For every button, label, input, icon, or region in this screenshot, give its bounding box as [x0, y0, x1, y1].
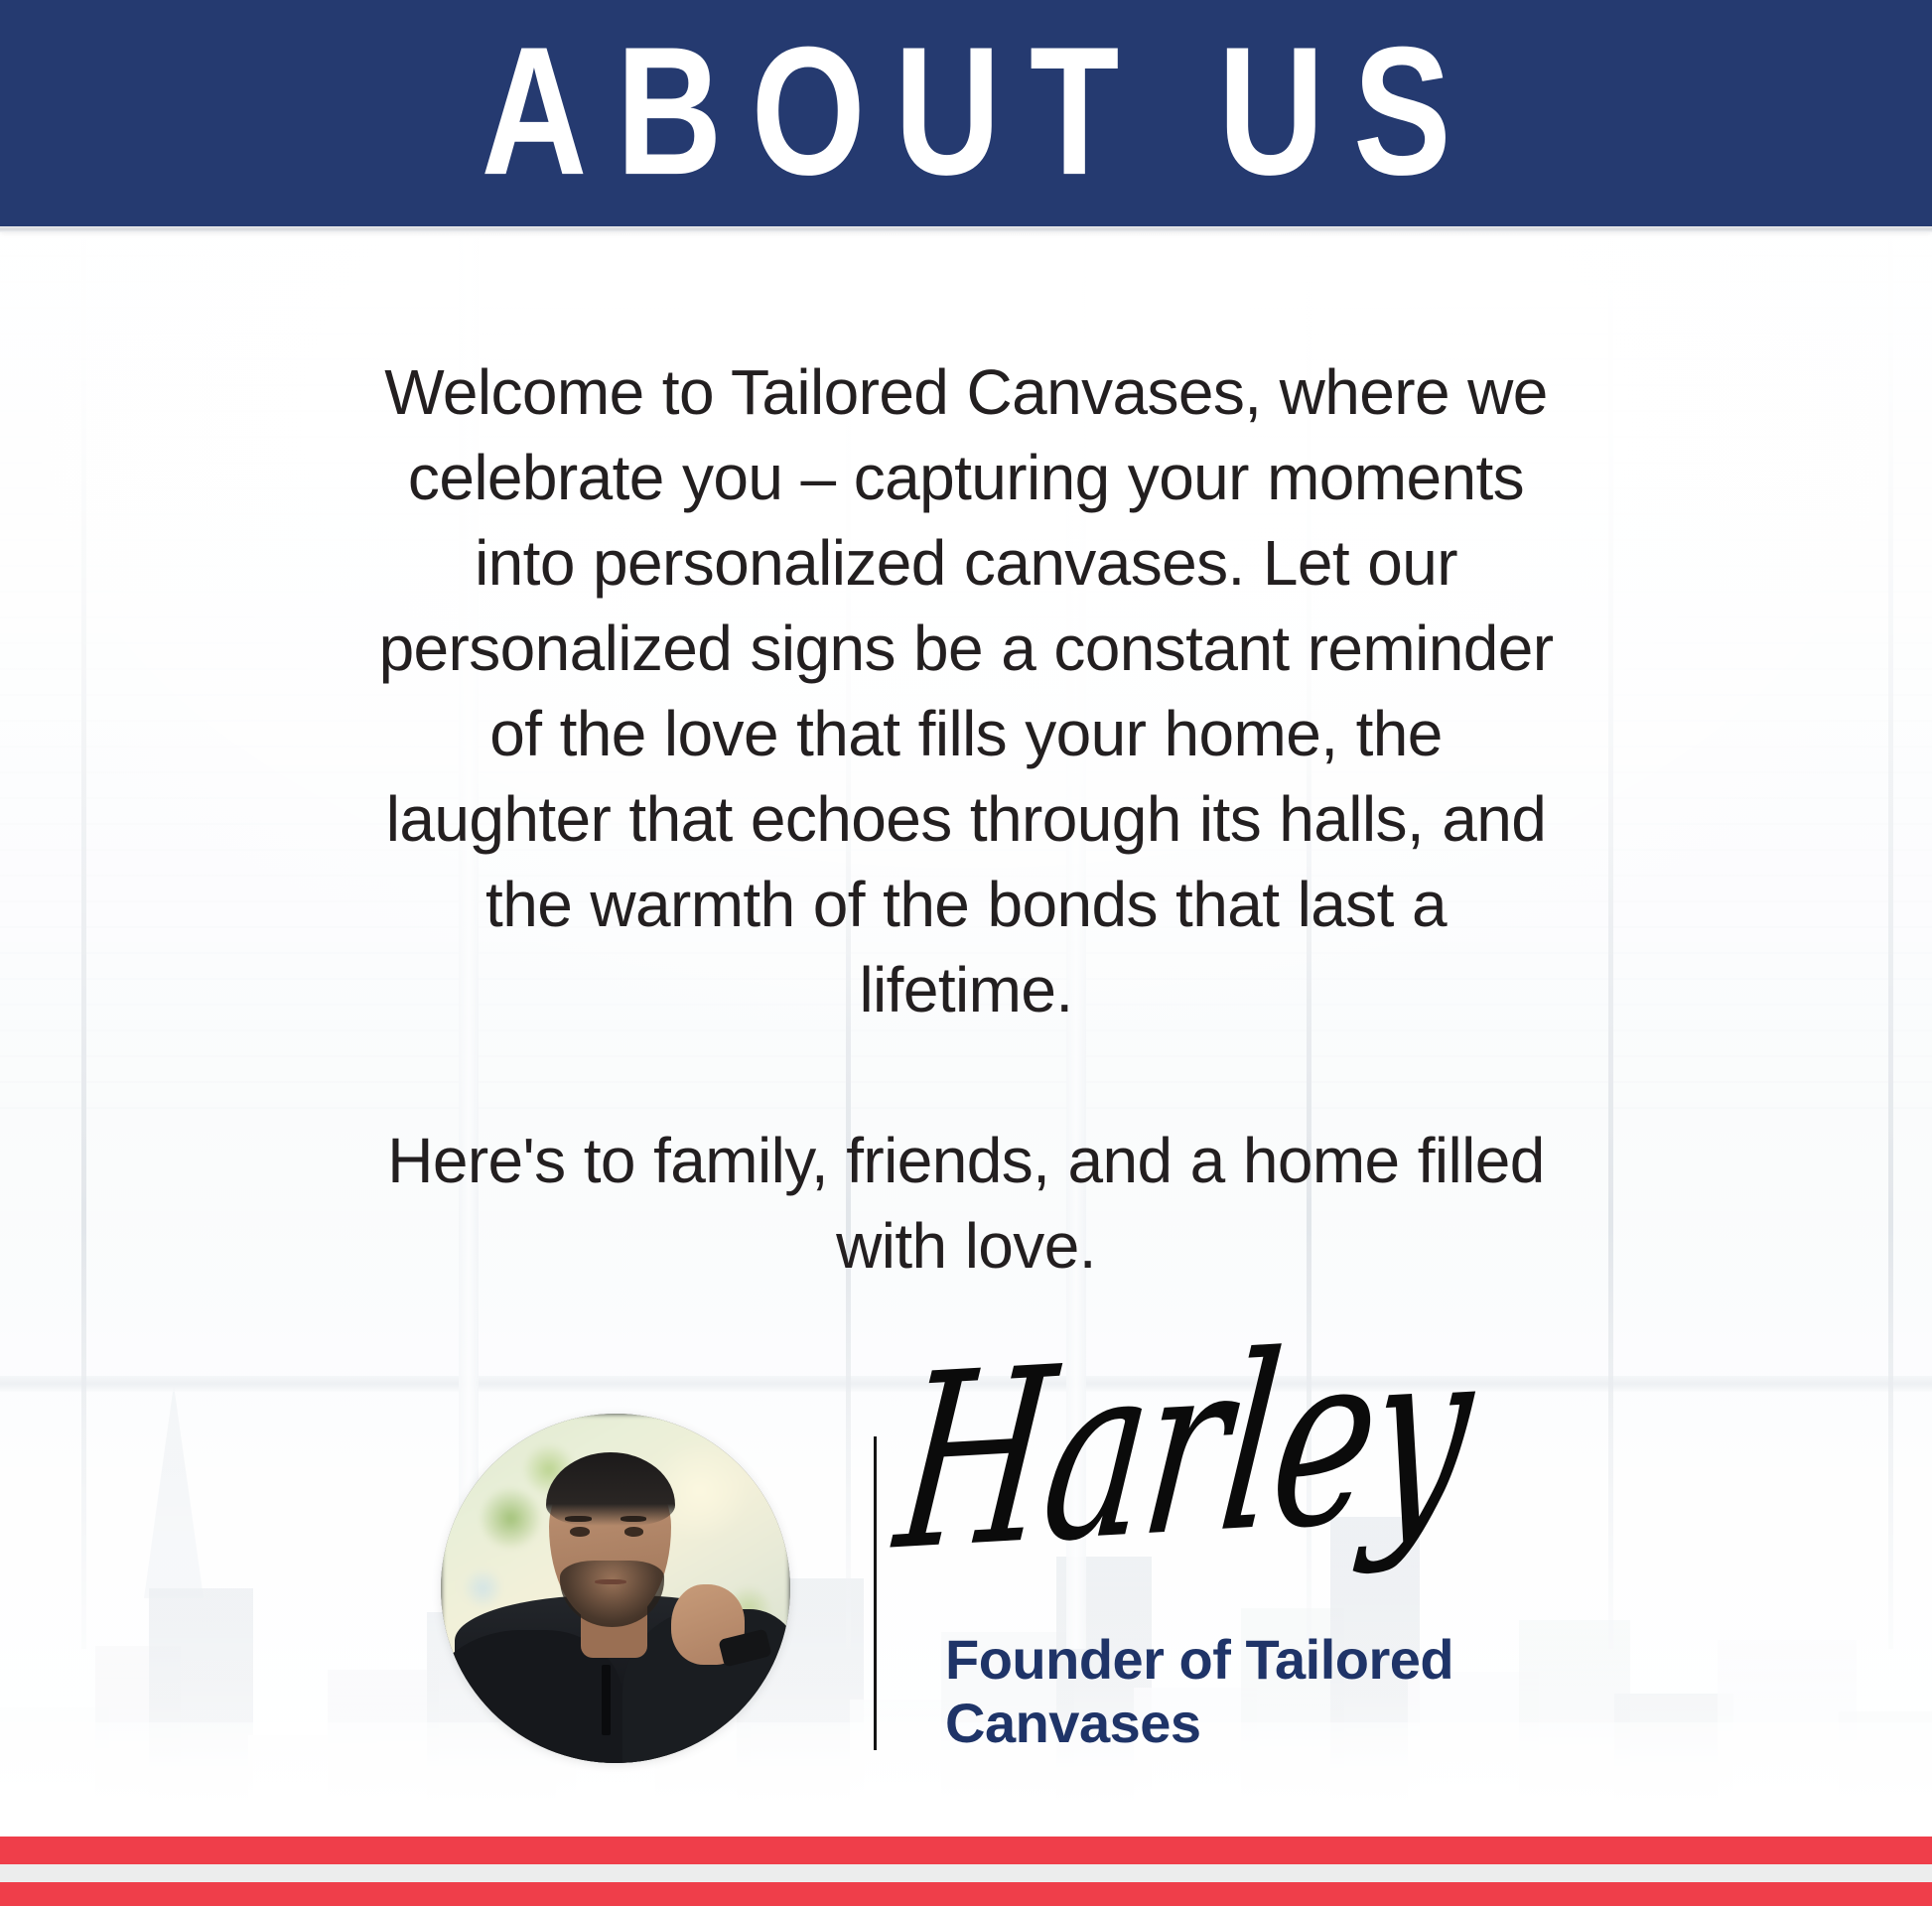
accent-bar-top [0, 1837, 1932, 1864]
window-rail [0, 1376, 1932, 1392]
avatar-eye-left [570, 1527, 589, 1536]
avatar-eyebrow-left [565, 1516, 591, 1522]
body-paragraph-2: Here's to family, friends, and a home fi… [370, 1118, 1562, 1289]
banner-underline [0, 226, 1932, 232]
accent-bar-gap [0, 1864, 1932, 1882]
founder-role-line-2: Canvases [945, 1692, 1581, 1755]
window-mullion [1608, 229, 1613, 1649]
signature-divider [874, 1436, 877, 1750]
about-us-page: ABOUT US Welcome to Tailored Canvases, w… [0, 0, 1932, 1906]
body-paragraph-1: Welcome to Tailored Canvases, where we c… [370, 349, 1562, 1032]
accent-bar-bottom [0, 1882, 1932, 1906]
avatar-eye-right [624, 1527, 643, 1536]
avatar-mouth [595, 1579, 626, 1584]
founder-role: Founder of Tailored Canvases [945, 1628, 1581, 1755]
founder-avatar [441, 1414, 790, 1763]
founder-role-line-1: Founder of Tailored [945, 1628, 1581, 1692]
window-mullion [1888, 229, 1893, 1649]
page-title: ABOUT US [452, 20, 1480, 203]
about-us-banner: ABOUT US [0, 0, 1932, 226]
transamerica-spire [144, 1385, 204, 1598]
avatar-portrait-illustration [441, 1414, 790, 1763]
window-mullion [81, 229, 86, 1649]
avatar-eyebrow-right [621, 1516, 646, 1522]
about-us-body: Welcome to Tailored Canvases, where we c… [370, 349, 1562, 1289]
avatar-necklace [602, 1665, 611, 1734]
